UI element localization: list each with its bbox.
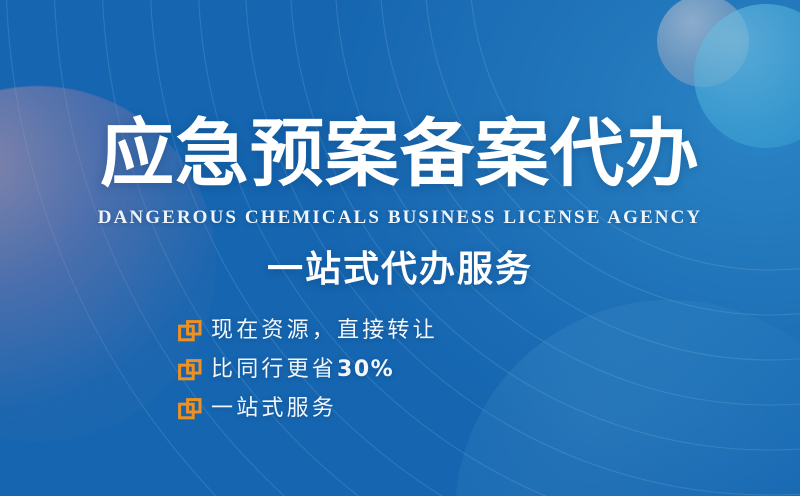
overlapping-squares-icon xyxy=(178,397,202,421)
feature-list: 现在资源，直接转让 比同行更省30% 一站式服务 xyxy=(178,316,438,424)
banner-subtitle-chinese: 一站式代办服务 xyxy=(0,246,800,292)
feature-label: 现在资源，直接转让 xyxy=(211,318,438,344)
banner-content: 应急预案备案代办 DANGEROUS CHEMICALS BUSINESS LI… xyxy=(0,0,800,496)
list-item: 一站式服务 xyxy=(178,394,438,424)
overlapping-squares-icon xyxy=(178,319,202,343)
feature-label: 一站式服务 xyxy=(211,396,337,422)
feature-text-emphasis: 30% xyxy=(337,357,394,382)
feature-text-main: 比同行更省 xyxy=(211,357,337,382)
list-item: 比同行更省30% xyxy=(178,355,438,385)
feature-label: 比同行更省30% xyxy=(211,357,394,383)
feature-text-main: 现在资源，直接转让 xyxy=(211,318,438,343)
promotional-banner: 应急预案备案代办 DANGEROUS CHEMICALS BUSINESS LI… xyxy=(0,0,800,496)
list-item: 现在资源，直接转让 xyxy=(178,316,438,346)
overlapping-squares-icon xyxy=(178,358,202,382)
banner-subtitle-english: DANGEROUS CHEMICALS BUSINESS LICENSE AGE… xyxy=(0,206,800,230)
feature-text-main: 一站式服务 xyxy=(211,396,337,421)
banner-title: 应急预案备案代办 xyxy=(0,112,800,196)
